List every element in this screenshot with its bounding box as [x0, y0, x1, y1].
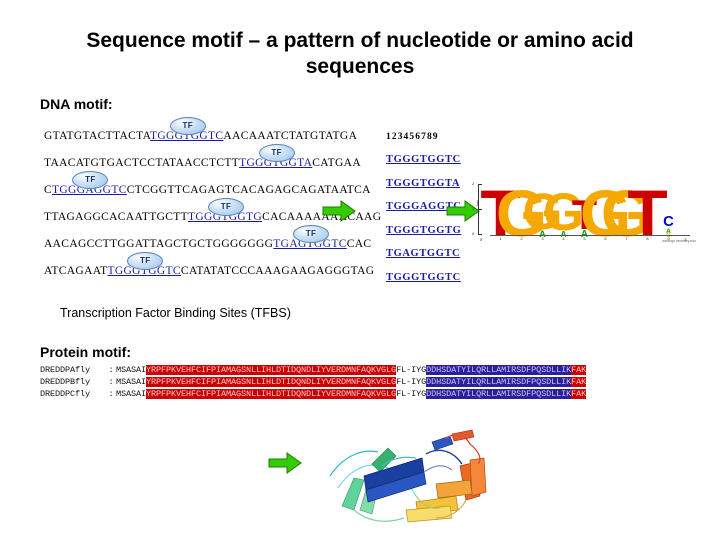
logo-x-tick: 6 — [595, 236, 616, 241]
alignment-sequence-name: DREDDPCfly — [40, 389, 106, 399]
tf-badge: TF — [208, 198, 244, 216]
position-ruler: 123456789 — [386, 132, 461, 142]
dna-motif-label: DNA motif: — [40, 96, 113, 112]
logo-ytick-2: 2 — [472, 181, 474, 186]
sequence-suffix: CTCGGTTCAGAGTCACAGAGCAGATAATCA — [127, 184, 371, 196]
logo-x-tick-labels: 123456789 — [490, 236, 679, 241]
logo-x-tick: 4 — [553, 236, 574, 241]
dna-sequence-line: AACAGCCTTGGATTAGCTGCTGGGGGGGTGAGTGGTCCAC… — [44, 236, 384, 263]
alignment-segment-plain: MSASAI — [116, 365, 146, 375]
protein-motif-label: Protein motif: — [40, 344, 131, 360]
alignment-separator: : — [106, 389, 116, 399]
alignment-segment-plain: FL-IYG — [396, 365, 426, 375]
sequence-prefix: TAACATGTGACTCCTATAACCTCTT — [44, 157, 239, 169]
alignment-segment-red: YRPFPKVEHFCIFPIAMAGSNLLIHLDTIDQNDLIYVERD… — [146, 365, 396, 375]
protein-3d-structure-image — [320, 418, 500, 530]
sequence-suffix: CAC — [347, 238, 372, 250]
alignment-segment-plain: MSASAI — [116, 389, 146, 399]
logo-5prime-label: 5' — [480, 237, 483, 242]
alignment-sequence-name: DREDDPAfly — [40, 365, 106, 375]
aligned-motif-item: TGAGTGGTC — [386, 248, 461, 259]
sequence-prefix: GTATGTACTTACTA — [44, 130, 150, 142]
alignment-segment-red: FAK — [571, 365, 586, 375]
tf-badge: TF — [127, 252, 163, 270]
logo-ytick-1: 1 — [472, 206, 474, 211]
alignment-segment-red: YRPFPKVEHFCIFPIAMAGSNLLIHLDTIDQNDLIYVERD… — [146, 377, 396, 387]
alignment-row: DREDDPCfly:MSASAIYRPFPKVEHFCIFPIAMAGSNLL… — [40, 388, 586, 400]
logo-ytick-0: 0 — [472, 231, 474, 236]
sequence-prefix: ATCAGAAT — [44, 265, 108, 277]
aligned-motif-item: TGGGTGGTA — [386, 178, 461, 189]
sequence-suffix: AACAAATCTATGTATGA — [223, 130, 357, 142]
tf-badge: TF — [170, 117, 206, 135]
logo-letter-C: C — [663, 217, 674, 228]
page-title: Sequence motif – a pattern of nucleotide… — [60, 28, 660, 80]
logo-x-tick: 8 — [637, 236, 658, 241]
alignment-segment-plain: FL-IYG — [396, 389, 426, 399]
arrow-right-icon-1 — [322, 200, 356, 222]
alignment-segment-plain: MSASAI — [116, 377, 146, 387]
aligned-motif-item: TGGGTGGTC — [386, 154, 461, 165]
sequence-logo-chart: 2 1 0 bits TGGAGATAGGTCAG 123456789 5' 3… — [478, 182, 696, 244]
logo-y-axis-label: bits — [475, 200, 480, 206]
logo-column: GA — [553, 192, 574, 238]
sequence-suffix: CATGAA — [312, 157, 361, 169]
alignment-segment-plain: FL-IYG — [396, 377, 426, 387]
protein-alignment: DREDDPAfly:MSASAIYRPFPKVEHFCIFPIAMAGSNLL… — [40, 364, 586, 400]
alignment-row: DREDDPAfly:MSASAIYRPFPKVEHFCIFPIAMAGSNLL… — [40, 364, 586, 376]
alignment-row: DREDDPBfly:MSASAIYRPFPKVEHFCIFPIAMAGSNLL… — [40, 376, 586, 388]
slide-canvas: Sequence motif – a pattern of nucleotide… — [0, 0, 720, 540]
alignment-segment-blue: DDHSDATYILQRLLAMIRSDFPQSDLLIK — [426, 377, 571, 387]
alignment-segment-blue: DDHSDATYILQRLLAMIRSDFPQSDLLIK — [426, 389, 571, 399]
dna-sequence-line: GTATGTACTTACTATGGGTGGTCAACAAATCTATGTATGA… — [44, 128, 384, 155]
arrow-right-icon-3 — [268, 452, 302, 474]
tf-badge: TF — [259, 144, 295, 162]
sequence-suffix: CATATATCCCAAAGAAGAGGGTAG — [181, 265, 374, 277]
logo-column: T — [637, 188, 658, 238]
alignment-segment-blue: DDHSDATYILQRLLAMIRSDFPQSDLLIK — [426, 365, 571, 375]
logo-x-tick: 2 — [511, 236, 532, 241]
logo-credit: weblogo.berkeley.edu — [662, 239, 696, 243]
aligned-motif-item: TGGGTGGTC — [386, 272, 461, 283]
alignment-sequence-name: DREDDPBfly — [40, 377, 106, 387]
logo-letter-stacks: TGGAGATAGGTCAG — [490, 182, 679, 238]
aligned-motif-item: TGGGTGGTG — [386, 225, 461, 236]
logo-x-tick: 3 — [532, 236, 553, 241]
alignment-separator: : — [106, 377, 116, 387]
alignment-separator: : — [106, 365, 116, 375]
tf-badge: TF — [293, 225, 329, 243]
tfbs-caption: Transcription Factor Binding Sites (TFBS… — [60, 306, 291, 320]
alignment-segment-red: YRPFPKVEHFCIFPIAMAGSNLLIHLDTIDQNDLIYVERD… — [146, 389, 396, 399]
alignment-segment-red: FAK — [571, 389, 586, 399]
sequence-prefix: AACAGCCTTGGATTAGCTGCTGGGGGGG — [44, 238, 273, 250]
sequence-prefix: C — [44, 184, 52, 196]
sequence-prefix: TTAGAGGCACAATTGCTT — [44, 211, 188, 223]
logo-x-tick: 7 — [616, 236, 637, 241]
alignment-segment-red: FAK — [571, 377, 586, 387]
dna-sequence-line: ATCAGAATTGGGTGGTCCATATATCCCAAAGAAGAGGGTA… — [44, 263, 384, 290]
logo-x-tick: 5 — [574, 236, 595, 241]
logo-x-tick: 1 — [490, 236, 511, 241]
